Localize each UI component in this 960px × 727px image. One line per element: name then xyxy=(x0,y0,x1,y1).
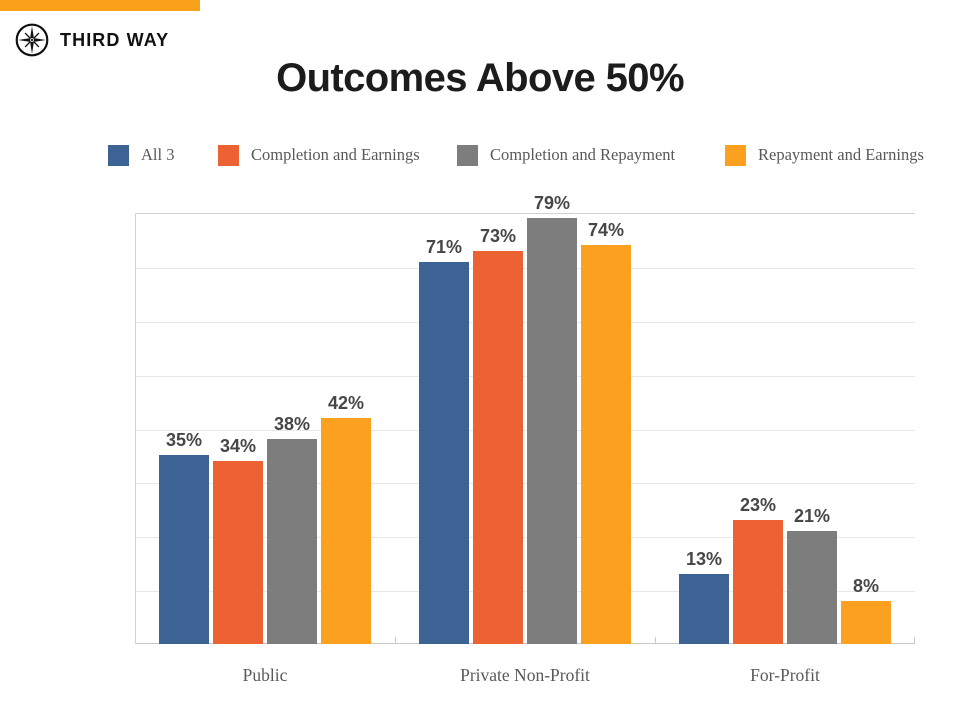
bar-fill xyxy=(473,251,523,644)
bar-value-label: 71% xyxy=(426,237,462,258)
bar-value-label: 34% xyxy=(220,436,256,457)
bar-fill xyxy=(581,245,631,644)
bar-fill xyxy=(159,455,209,644)
bar-value-label: 8% xyxy=(853,576,879,597)
bar-for-profit-3[interactable]: 8% xyxy=(841,213,891,644)
bar-group-bars: 71%73%79%74% xyxy=(395,213,655,644)
bar-value-label: 35% xyxy=(166,430,202,451)
bar-value-label: 23% xyxy=(740,495,776,516)
bar-chart: 35%34%38%42%Public71%73%79%74%Private No… xyxy=(0,0,960,727)
bar-group-2: 13%23%21%8%For-Profit xyxy=(655,213,915,644)
bar-fill xyxy=(841,601,891,644)
bar-fill xyxy=(527,218,577,644)
bar-fill xyxy=(787,531,837,644)
bar-group-0: 35%34%38%42%Public xyxy=(135,213,395,644)
bar-private-non-profit-0[interactable]: 71% xyxy=(419,213,469,644)
bar-value-label: 13% xyxy=(686,549,722,570)
bar-group-1: 71%73%79%74%Private Non-Profit xyxy=(395,213,655,644)
bar-private-non-profit-1[interactable]: 73% xyxy=(473,213,523,644)
bar-value-label: 73% xyxy=(480,226,516,247)
bar-group-bars: 35%34%38%42% xyxy=(135,213,395,644)
bar-group-bars: 13%23%21%8% xyxy=(655,213,915,644)
bar-fill xyxy=(679,574,729,644)
x-axis-category-label: Private Non-Profit xyxy=(395,665,655,686)
bar-fill xyxy=(213,461,263,644)
bar-for-profit-0[interactable]: 13% xyxy=(679,213,729,644)
bar-groups: 35%34%38%42%Public71%73%79%74%Private No… xyxy=(135,213,915,644)
x-axis-tick xyxy=(395,637,396,644)
bar-value-label: 38% xyxy=(274,414,310,435)
bar-for-profit-2[interactable]: 21% xyxy=(787,213,837,644)
bar-fill xyxy=(321,418,371,644)
bar-for-profit-1[interactable]: 23% xyxy=(733,213,783,644)
x-axis-category-label: Public xyxy=(135,665,395,686)
x-axis-tick xyxy=(914,637,915,644)
bar-public-2[interactable]: 38% xyxy=(267,213,317,644)
bar-fill xyxy=(419,262,469,645)
bar-public-0[interactable]: 35% xyxy=(159,213,209,644)
bar-value-label: 79% xyxy=(534,193,570,214)
bar-private-non-profit-3[interactable]: 74% xyxy=(581,213,631,644)
x-axis-tick xyxy=(655,637,656,644)
bar-public-1[interactable]: 34% xyxy=(213,213,263,644)
x-axis-category-label: For-Profit xyxy=(655,665,915,686)
bar-private-non-profit-2[interactable]: 79% xyxy=(527,213,577,644)
bar-value-label: 74% xyxy=(588,220,624,241)
bar-public-3[interactable]: 42% xyxy=(321,213,371,644)
bar-value-label: 21% xyxy=(794,506,830,527)
bar-fill xyxy=(267,439,317,644)
bar-fill xyxy=(733,520,783,644)
bar-value-label: 42% xyxy=(328,393,364,414)
